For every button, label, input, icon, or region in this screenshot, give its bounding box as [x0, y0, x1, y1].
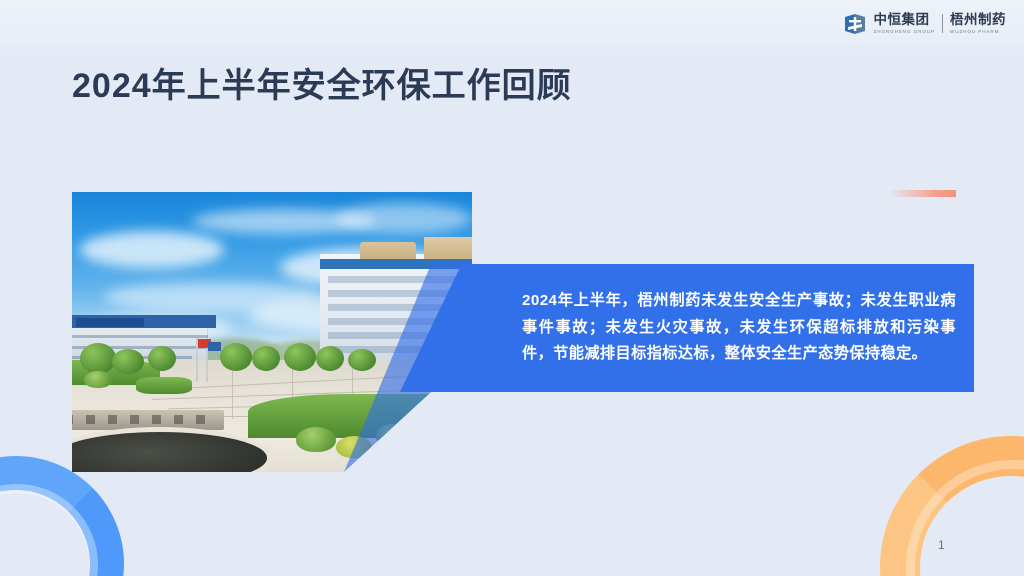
photo-tree — [148, 346, 176, 371]
summary-panel: 2024年上半年，梧州制药未发生安全生产事故；未发生职业病事件事故；未发生火灾事… — [472, 264, 974, 392]
photo-shrub — [376, 424, 408, 446]
photo-lawn — [248, 394, 472, 439]
logo-wordmark: 中恒集团 ZHONGHENG GROUP 梧州制药 WUZHOU PHARM. — [874, 13, 1006, 35]
photo-shrub — [84, 371, 112, 388]
photo-shrub — [296, 427, 336, 452]
slide-root: 中恒集团 ZHONGHENG GROUP 梧州制药 WUZHOU PHARM. … — [0, 0, 1024, 576]
page-number: 1 — [938, 538, 945, 552]
photo-window-row — [72, 335, 208, 338]
photo-cloud — [336, 203, 472, 234]
photo-lawn — [136, 377, 192, 394]
accent-bar — [888, 190, 956, 197]
page-title: 2024年上半年安全环保工作回顾 — [72, 64, 572, 108]
summary-text: 2024年上半年，梧州制药未发生安全生产事故；未发生职业病事件事故；未发生火灾事… — [472, 288, 974, 368]
photo-building-left-sign — [76, 318, 144, 327]
logo-divider — [942, 14, 943, 33]
logo-brand-cn: 梧州制药 — [950, 13, 1006, 27]
photo-window-row — [328, 276, 472, 283]
zhongheng-logo-mark-icon — [842, 11, 868, 37]
photo-shrub — [336, 436, 372, 458]
logo-group-en: ZHONGHENG GROUP — [874, 28, 935, 35]
photo-pool-wall-text — [72, 415, 208, 425]
photo-flag — [208, 342, 221, 351]
photo-pavement-line — [232, 368, 233, 418]
campus-photo-canvas — [72, 192, 472, 472]
photo-tree — [284, 343, 316, 371]
logo-brand-en: WUZHOU PHARM. — [950, 28, 1006, 35]
photo-cloud — [80, 231, 224, 267]
logo-group-block: 中恒集团 ZHONGHENG GROUP — [874, 13, 935, 35]
company-logo: 中恒集团 ZHONGHENG GROUP 梧州制药 WUZHOU PHARM. — [842, 9, 1006, 39]
photo-building-signband — [320, 259, 472, 269]
photo-tree — [220, 343, 252, 371]
photo-tree — [252, 346, 280, 371]
logo-group-cn: 中恒集团 — [874, 13, 935, 27]
photo-tree — [316, 346, 344, 371]
campus-photo — [72, 192, 472, 472]
photo-tree — [348, 349, 376, 371]
photo-tree — [112, 349, 144, 374]
photo-tree — [80, 343, 116, 374]
logo-brand-block: 梧州制药 WUZHOU PHARM. — [950, 13, 1006, 35]
